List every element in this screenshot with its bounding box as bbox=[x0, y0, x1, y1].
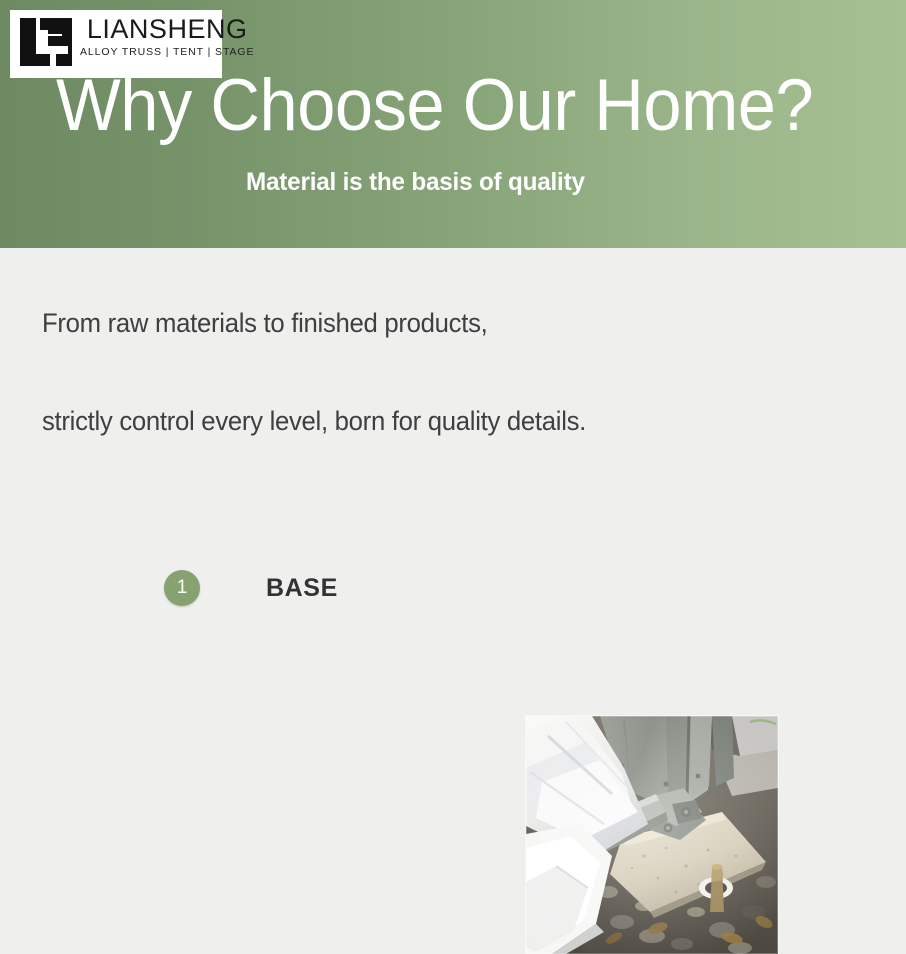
list-item-label: BASE bbox=[266, 574, 338, 603]
brand-text-block: LIANSHENG ALLOY TRUSS | TENT | STAGE bbox=[80, 14, 254, 59]
body-paragraph-line-2: strictly control every level, born for q… bbox=[42, 406, 586, 437]
ls-monogram-icon bbox=[18, 16, 74, 68]
tent-base-plate-photo bbox=[526, 716, 778, 954]
brand-logo-plate[interactable]: LIANSHENG ALLOY TRUSS | TENT | STAGE bbox=[10, 10, 222, 78]
brand-wordmark: LIANSHENG bbox=[87, 14, 248, 44]
content-area: From raw materials to finished products,… bbox=[0, 248, 906, 711]
header-band: LIANSHENG ALLOY TRUSS | TENT | STAGE Why… bbox=[0, 0, 906, 248]
list-item: 1 BASE bbox=[164, 570, 338, 606]
photo-illustration bbox=[526, 716, 778, 954]
brand-tagline: ALLOY TRUSS | TENT | STAGE bbox=[80, 45, 254, 59]
list-item-number-badge: 1 bbox=[164, 570, 200, 606]
body-paragraph-line-1: From raw materials to finished products, bbox=[42, 308, 488, 339]
page-subtitle: Material is the basis of quality bbox=[246, 168, 585, 197]
